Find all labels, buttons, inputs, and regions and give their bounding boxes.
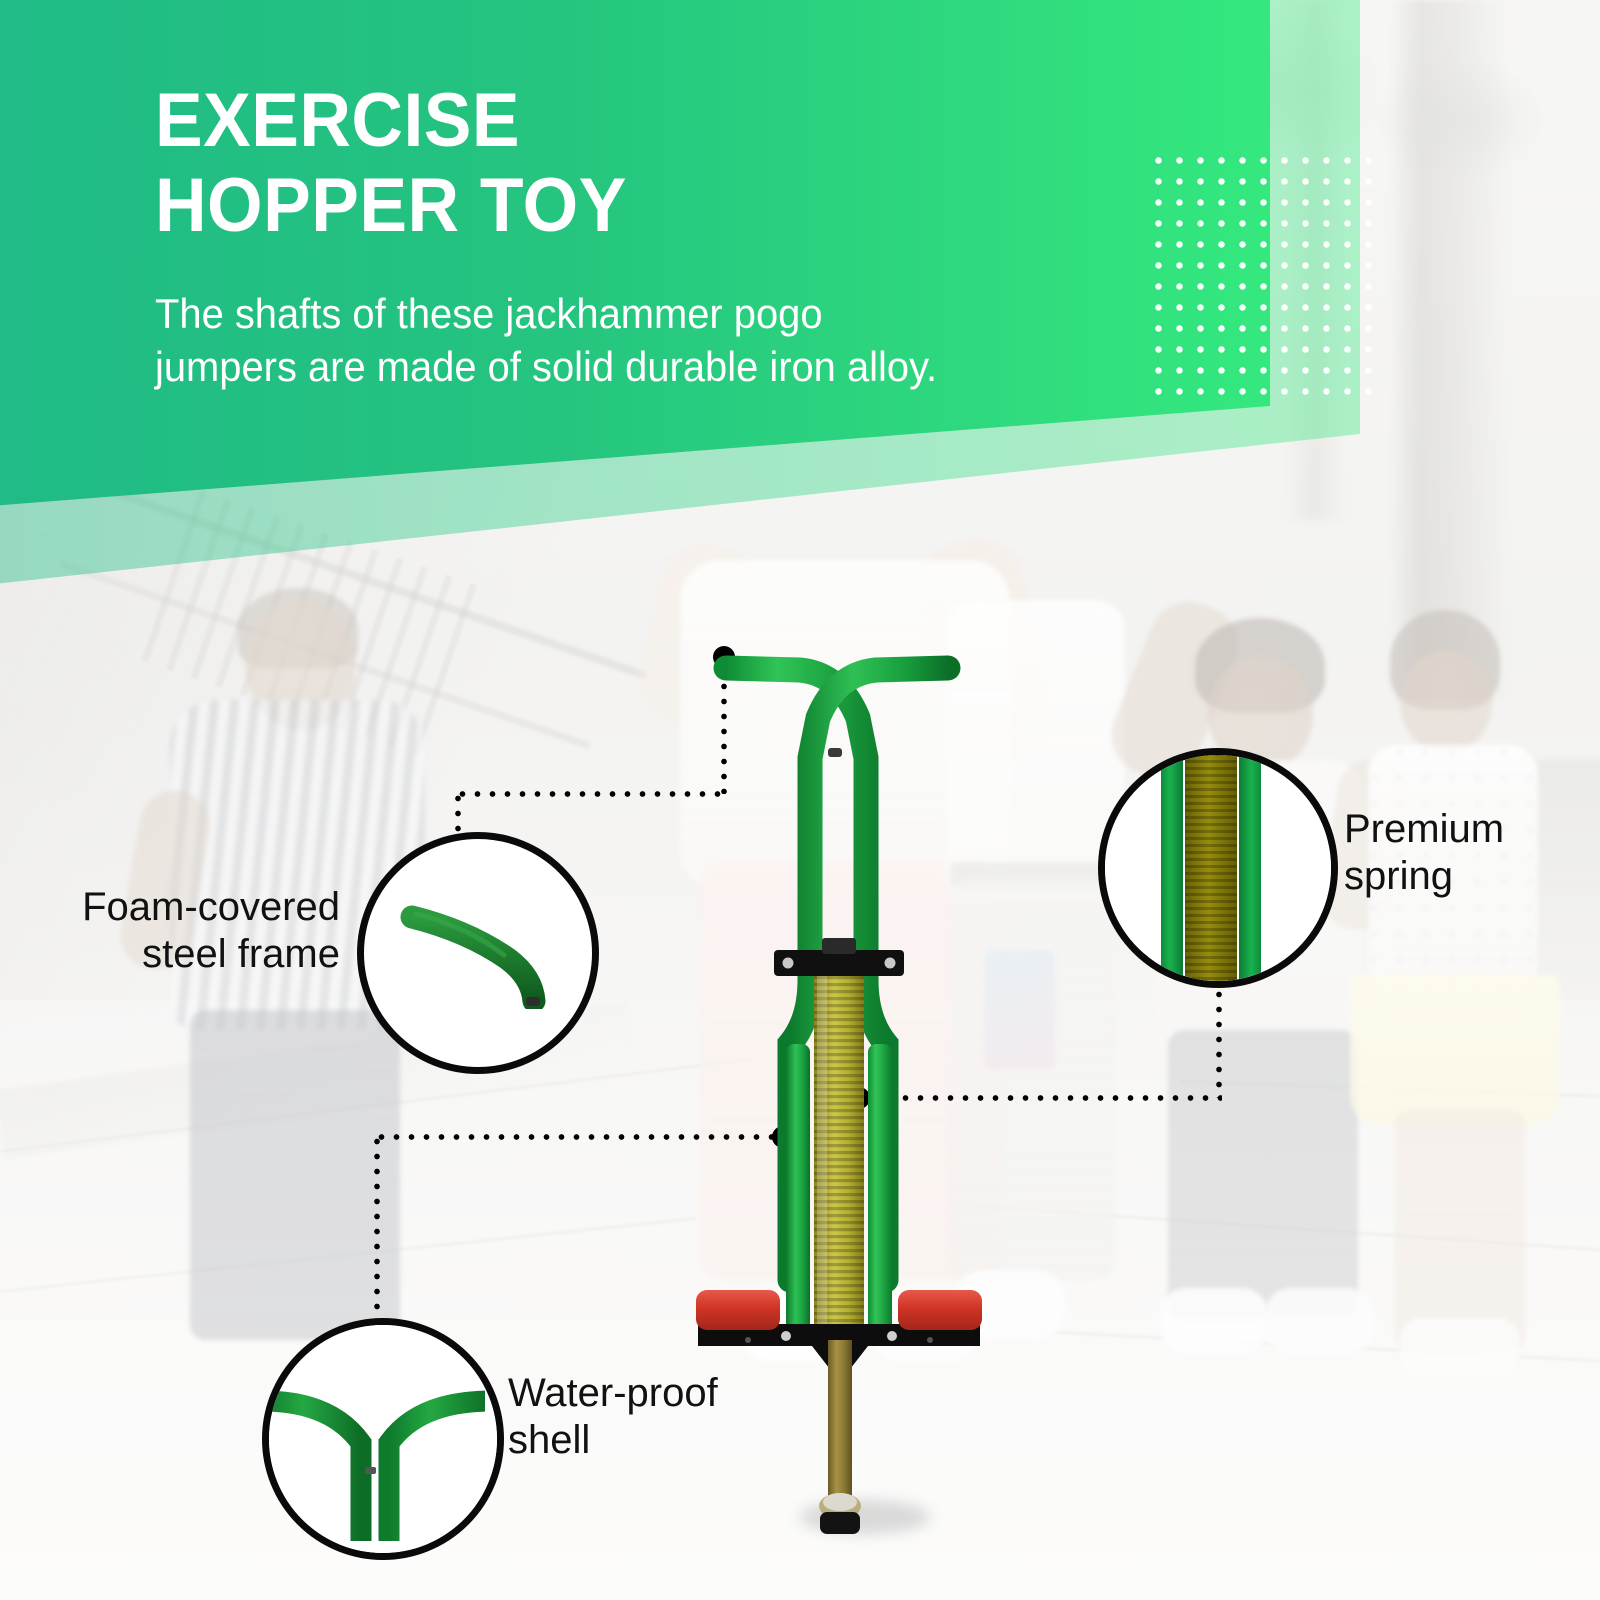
spring-coil	[1185, 749, 1237, 988]
leader-line-foam-frame-drop	[455, 791, 461, 839]
callout-label-water-proof-shell: Water-proof shell	[508, 1370, 808, 1464]
foam-handle-inset-image	[398, 897, 566, 1005]
leader-line-spring-vertical	[1216, 972, 1222, 1098]
page-subtitle-line1: The shafts of these jackhammer pogo	[155, 288, 1105, 341]
leader-line-shell-vertical	[374, 1134, 380, 1330]
page-subtitle-line2: jumpers are made of solid durable iron a…	[155, 341, 1105, 394]
callout-label-premium-spring-line1: Premium	[1344, 806, 1600, 853]
callout-label-foam-frame-line2: steel frame	[20, 931, 340, 978]
callout-circle-water-proof-shell	[262, 1318, 504, 1560]
page-subtitle: The shafts of these jackhammer pogo jump…	[155, 288, 1155, 393]
spring-rail-right	[1239, 749, 1261, 988]
callout-label-water-proof-shell-line1: Water-proof	[508, 1370, 808, 1417]
callout-label-foam-frame-line1: Foam-covered	[20, 884, 340, 931]
callout-label-premium-spring: Premium spring	[1344, 806, 1600, 900]
spring-inset-image	[1105, 755, 1331, 981]
spring-rail-left	[1161, 749, 1183, 988]
dot-grid-decoration	[1148, 150, 1378, 400]
callout-label-premium-spring-line2: spring	[1344, 853, 1600, 900]
callout-label-water-proof-shell-line2: shell	[508, 1417, 808, 1464]
page-title-line2: HOPPER TOY	[155, 163, 1114, 248]
callout-label-foam-frame: Foam-covered steel frame	[20, 884, 340, 978]
leader-line-foam-frame-horizontal	[455, 791, 727, 797]
spring-highlight	[1150, 749, 1160, 988]
shell-junction-inset-image	[269, 1325, 497, 1553]
page-title: EXERCISE HOPPER TOY	[155, 78, 1175, 248]
callout-circle-foam-frame	[357, 832, 599, 1074]
callout-circle-premium-spring	[1098, 748, 1338, 988]
infographic-canvas: EXERCISE HOPPER TOY The shafts of these …	[0, 0, 1600, 1600]
page-title-line1: EXERCISE	[155, 78, 1114, 163]
